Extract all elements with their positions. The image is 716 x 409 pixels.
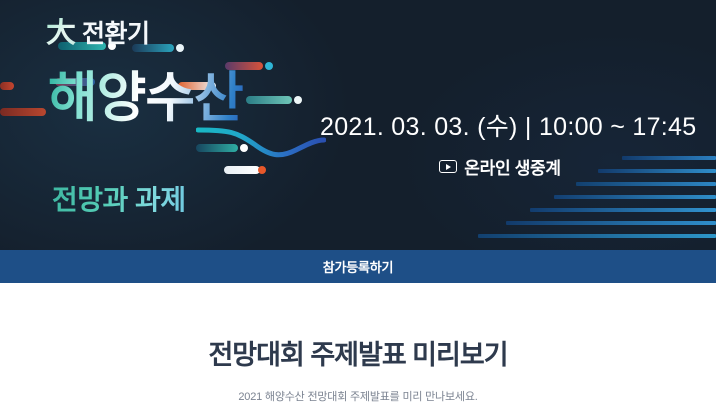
logo-sub-title: 전망과 과제	[52, 186, 186, 214]
hero-banner: 大 전환기 해양수산 전망과 과제 2021. 03. 03. (수) | 10…	[0, 0, 716, 250]
page-title: 전망대회 주제발표 미리보기	[0, 339, 716, 371]
preview-section: 전망대회 주제발표 미리보기 2021 해양수산 전망대회 주제발표를 미리 만…	[0, 283, 716, 404]
decor-dash-red-long	[0, 108, 46, 116]
play-icon	[439, 160, 457, 173]
decor-dash-red-small	[0, 82, 14, 90]
stair-line-4	[554, 195, 716, 199]
event-logo: 大 전환기 해양수산 전망과 과제	[46, 18, 316, 233]
logo-dae-char: 大	[46, 18, 76, 48]
live-broadcast-row: 온라인 생중계	[320, 154, 680, 179]
logo-main-title: 해양수산	[48, 70, 243, 127]
live-broadcast-label: 온라인 생중계	[464, 154, 560, 179]
register-button-label: 참가등록하기	[323, 257, 394, 276]
stair-line-5	[530, 208, 716, 212]
logo-prefix-word: 전환기	[82, 22, 150, 47]
stair-line-6	[506, 221, 716, 225]
page-subtitle: 2021 해양수산 전망대회 주제발표를 미리 만나보세요.	[0, 388, 716, 404]
event-info: 2021. 03. 03. (수) | 10:00 ~ 17:45 온라인 생중…	[320, 112, 680, 179]
event-datetime: 2021. 03. 03. (수) | 10:00 ~ 17:45	[320, 112, 680, 142]
stair-line-3	[576, 182, 716, 186]
register-button[interactable]: 참가등록하기	[0, 250, 716, 283]
stair-line-7	[478, 234, 716, 238]
logo-top-line: 大 전환기	[46, 18, 316, 58]
